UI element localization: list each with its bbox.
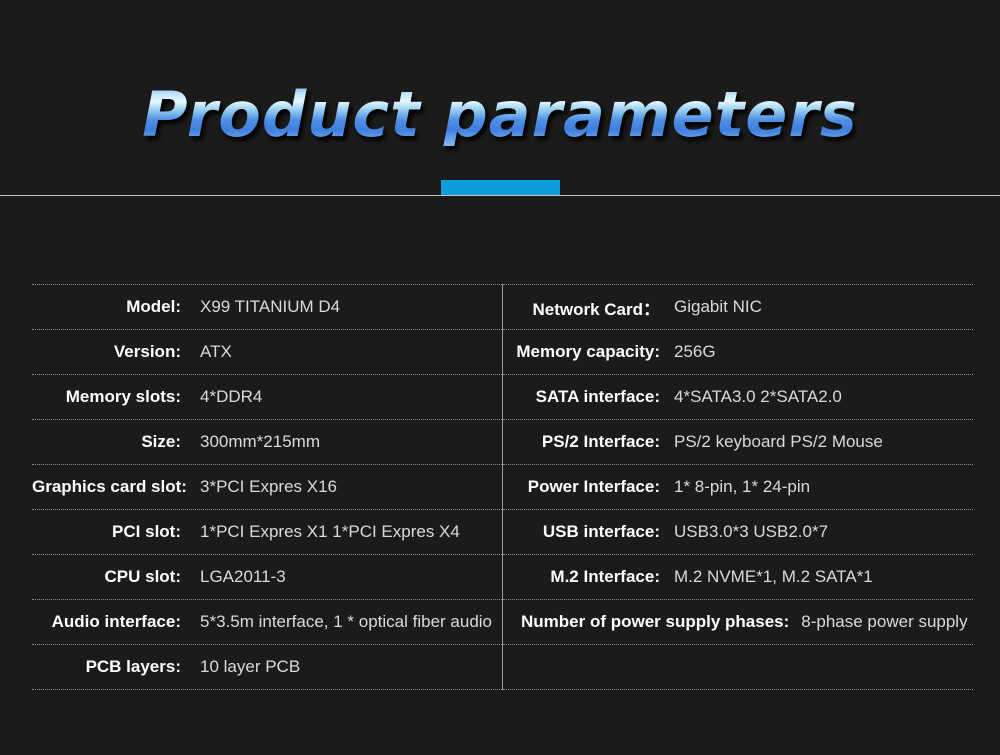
- spec-label: Memory slots:: [32, 387, 181, 407]
- right-spec-cell: Memory capacity: 256G: [503, 330, 974, 375]
- right-spec-cell: Number of power supply phases: 8-phase p…: [503, 600, 974, 645]
- table-row: PCI slot: 1*PCI Expres X1 1*PCI Expres X…: [32, 510, 973, 555]
- spec-value: 4*DDR4: [200, 387, 262, 407]
- spec-value: Gigabit NIC: [674, 297, 762, 317]
- spec-label: USB interface:: [513, 522, 660, 542]
- right-spec-cell: M.2 Interface: M.2 NVME*1, M.2 SATA*1: [503, 555, 974, 600]
- spec-value: 256G: [674, 342, 716, 362]
- table-row: Version: ATX Memory capacity: 256G: [32, 330, 973, 375]
- spec-value: 4*SATA3.0 2*SATA2.0: [674, 387, 842, 407]
- right-spec-cell: SATA interface: 4*SATA3.0 2*SATA2.0: [503, 375, 974, 420]
- spec-label: Number of power supply phases:: [513, 612, 789, 632]
- left-spec-cell: CPU slot: LGA2011-3: [32, 555, 503, 600]
- spec-value: 3*PCI Expres X16: [200, 477, 337, 497]
- left-spec-cell: PCI slot: 1*PCI Expres X1 1*PCI Expres X…: [32, 510, 503, 555]
- left-spec-cell: Memory slots: 4*DDR4: [32, 375, 503, 420]
- right-spec-cell: Power Interface: 1* 8-pin, 1* 24-pin: [503, 465, 974, 510]
- spec-value: M.2 NVME*1, M.2 SATA*1: [674, 567, 873, 587]
- spec-label: M.2 Interface:: [513, 567, 660, 587]
- spec-label: Network Card：: [513, 295, 660, 320]
- page-header: Product parameters: [0, 0, 1000, 197]
- spec-label: PCB layers:: [32, 657, 181, 677]
- left-spec-cell: Audio interface: 5*3.5m interface, 1 * o…: [32, 600, 503, 645]
- spec-label: CPU slot:: [32, 567, 181, 587]
- left-spec-cell: Graphics card slot: 3*PCI Expres X16: [32, 465, 503, 510]
- right-spec-cell: USB interface: USB3.0*3 USB2.0*7: [503, 510, 974, 555]
- spec-value: X99 TITANIUM D4: [200, 297, 340, 317]
- spec-label: Power Interface:: [513, 477, 660, 497]
- table-row: Memory slots: 4*DDR4 SATA interface: 4*S…: [32, 375, 973, 420]
- right-spec-cell-empty: [503, 645, 974, 690]
- spec-value: 1*PCI Expres X1 1*PCI Expres X4: [200, 522, 460, 542]
- spec-value: PS/2 keyboard PS/2 Mouse: [674, 432, 883, 452]
- right-spec-cell: PS/2 Interface: PS/2 keyboard PS/2 Mouse: [503, 420, 974, 465]
- spec-label: SATA interface:: [513, 387, 660, 407]
- left-spec-cell: PCB layers: 10 layer PCB: [32, 645, 503, 690]
- page-title: Product parameters: [0, 84, 1000, 146]
- spec-label: Audio interface:: [32, 612, 181, 632]
- spec-label: Model:: [32, 297, 181, 317]
- spec-label: Memory capacity:: [513, 342, 660, 362]
- table-row: CPU slot: LGA2011-3 M.2 Interface: M.2 N…: [32, 555, 973, 600]
- spec-label: Size:: [32, 432, 181, 452]
- spec-value: 5*3.5m interface, 1 * optical fiber audi…: [200, 612, 492, 632]
- table-row: Size: 300mm*215mm PS/2 Interface: PS/2 k…: [32, 420, 973, 465]
- left-spec-cell: Size: 300mm*215mm: [32, 420, 503, 465]
- title-underline-rule: [0, 195, 1000, 196]
- left-spec-cell: Version: ATX: [32, 330, 503, 375]
- left-spec-cell: Model: X99 TITANIUM D4: [32, 285, 503, 330]
- spec-value: LGA2011-3: [200, 567, 286, 587]
- spec-value: 1* 8-pin, 1* 24-pin: [674, 477, 810, 497]
- table-row: PCB layers: 10 layer PCB: [32, 645, 973, 690]
- spec-label: PS/2 Interface:: [513, 432, 660, 452]
- spec-label: Graphics card slot:: [32, 477, 181, 497]
- table-row: Audio interface: 5*3.5m interface, 1 * o…: [32, 600, 973, 645]
- specifications-table: Model: X99 TITANIUM D4 Network Card： Gig…: [32, 284, 973, 690]
- spec-value: 10 layer PCB: [200, 657, 300, 677]
- spec-value: 300mm*215mm: [200, 432, 320, 452]
- spec-value: USB3.0*3 USB2.0*7: [674, 522, 828, 542]
- title-accent-bar: [441, 180, 560, 195]
- table-row: Graphics card slot: 3*PCI Expres X16 Pow…: [32, 465, 973, 510]
- spec-value: ATX: [200, 342, 232, 362]
- table-row: Model: X99 TITANIUM D4 Network Card： Gig…: [32, 285, 973, 330]
- right-spec-cell: Network Card： Gigabit NIC: [503, 285, 974, 330]
- spec-label: PCI slot:: [32, 522, 181, 542]
- spec-label: Version:: [32, 342, 181, 362]
- spec-value: 8-phase power supply: [801, 612, 967, 632]
